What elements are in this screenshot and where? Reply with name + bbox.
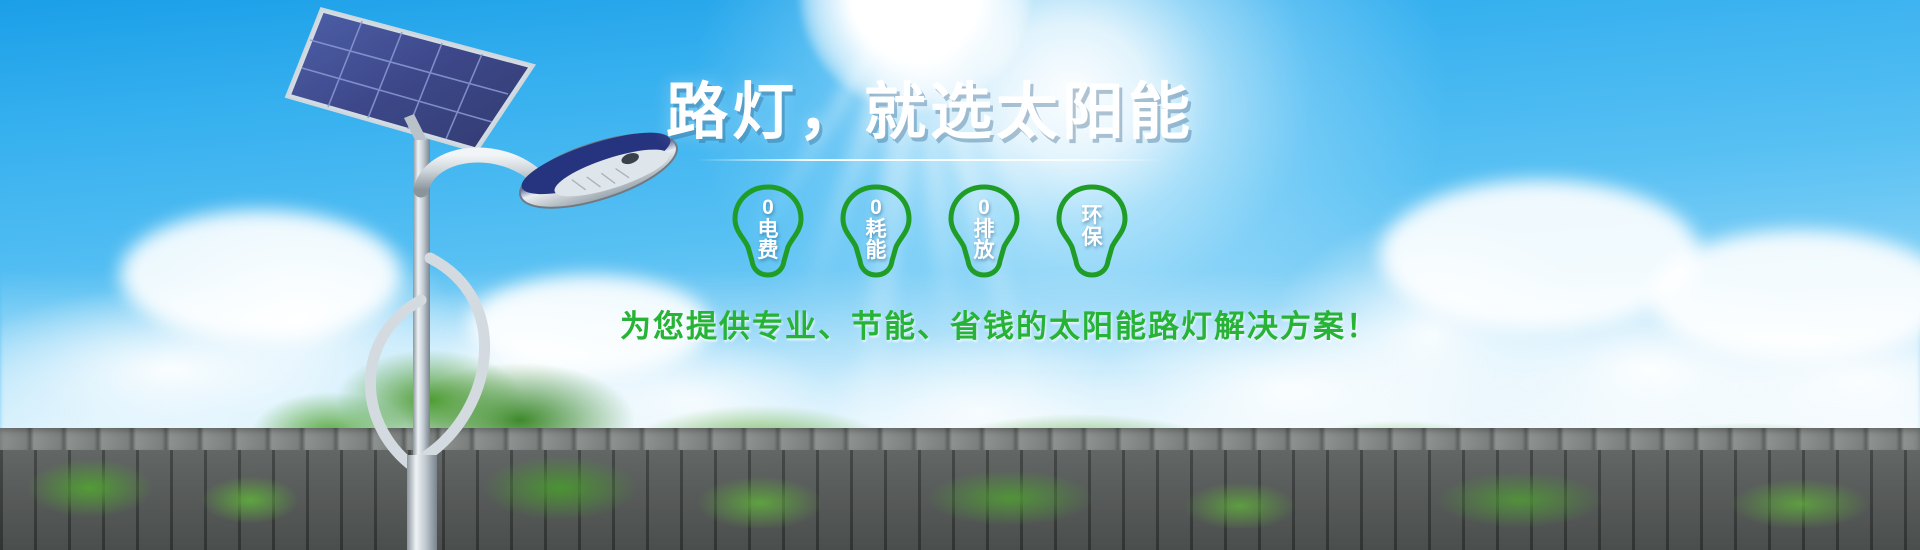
badge-number: 0 [943,197,1025,218]
badge-text: 环 保 [1051,205,1133,248]
badge-label: 环 保 [1051,205,1133,248]
badge-text: 0 排 放 [943,197,1025,261]
badge-text: 0 电 费 [727,197,809,261]
badge-label: 电 费 [727,219,809,262]
banner-copy: 路灯，就选太阳能 0 电 费 [620,80,1240,346]
solar-street-lamp-banner: 路灯，就选太阳能 0 电 费 [0,0,1920,550]
badge-number: 0 [835,197,917,218]
feature-badge-paifang: 0 排 放 [943,183,1025,279]
headline-divider [695,159,1165,161]
badge-text: 0 耗 能 [835,197,917,261]
lamp-arm [421,155,538,190]
badge-label: 排 放 [943,219,1025,262]
badge-label: 耗 能 [835,219,917,262]
feature-badge-dianfei: 0 电 费 [727,183,809,279]
banner-tagline: 为您提供专业、节能、省钱的太阳能路灯解决方案！ [620,301,1240,346]
badge-number: 0 [727,197,809,218]
feature-badge-haoneng: 0 耗 能 [835,183,917,279]
feature-badge-huanbao: 环 保 [1051,183,1133,279]
banner-headline: 路灯，就选太阳能 [620,80,1240,145]
lamp-guard [426,258,485,456]
feature-badge-list: 0 电 费 0 耗 能 [620,183,1240,279]
